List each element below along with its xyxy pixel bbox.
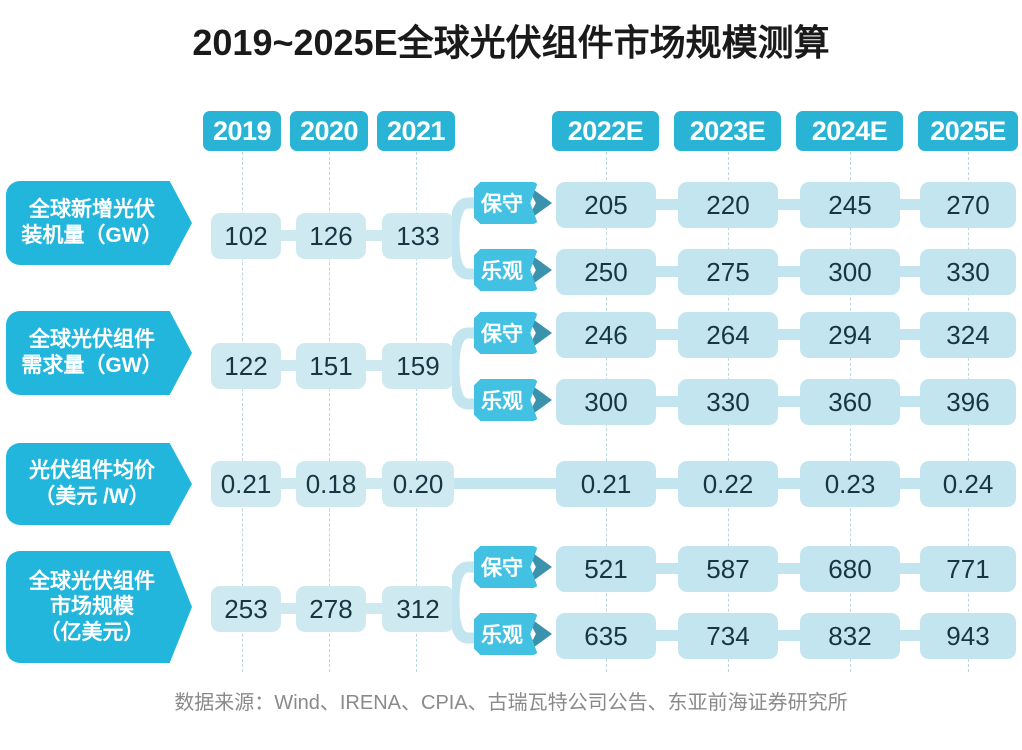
cell-r1-optimistic-2025E: 396 bbox=[920, 379, 1016, 425]
connector-optimistic-1-1 bbox=[656, 396, 678, 407]
cell-r3-optimistic-2025E: 943 bbox=[920, 613, 1016, 659]
scenario-badge-optimistic-0: 乐观 bbox=[474, 249, 538, 291]
bridge-connector-2 bbox=[454, 478, 556, 489]
scenario-badge-conservative-0: 保守 bbox=[474, 182, 538, 224]
cell-r0-conservative-2025E: 270 bbox=[920, 182, 1016, 228]
row-label-2: 光伏组件均价（美元 /W） bbox=[6, 443, 192, 525]
column-header-2020: 2020 bbox=[290, 111, 368, 151]
cell-r2-2023E: 0.22 bbox=[678, 461, 778, 507]
cell-r1-2019: 122 bbox=[211, 343, 281, 389]
cell-r1-2021: 159 bbox=[382, 343, 454, 389]
connector-optimistic-3-2 bbox=[778, 630, 800, 641]
cell-r2-2022E: 0.21 bbox=[556, 461, 656, 507]
connector-optimistic-0-3 bbox=[900, 266, 920, 277]
cell-r0-2021: 133 bbox=[382, 213, 454, 259]
connector-conservative-3-3 bbox=[900, 563, 920, 574]
connector-forecast-2-2 bbox=[778, 478, 800, 489]
connector-conservative-0-1 bbox=[656, 199, 678, 210]
connector-conservative-3-2 bbox=[778, 563, 800, 574]
cell-r0-conservative-2023E: 220 bbox=[678, 182, 778, 228]
connector-conservative-0-2 bbox=[778, 199, 800, 210]
row-label-0: 全球新增光伏装机量（GW） bbox=[6, 181, 192, 265]
connector-hist-3-2 bbox=[366, 603, 382, 614]
connector-hist-1-1 bbox=[281, 360, 296, 371]
cell-r2-2024E: 0.23 bbox=[800, 461, 900, 507]
cell-r0-optimistic-2022E: 250 bbox=[556, 249, 656, 295]
connector-optimistic-3-1 bbox=[656, 630, 678, 641]
column-header-2022e: 2022E bbox=[552, 111, 659, 151]
scenario-badge-conservative-1: 保守 bbox=[474, 312, 538, 354]
connector-forecast-2-3 bbox=[900, 478, 920, 489]
connector-hist-0-2 bbox=[366, 230, 382, 241]
page-title: 2019~2025E全球光伏组件市场规模测算 bbox=[0, 14, 1022, 66]
row-label-1: 全球光伏组件需求量（GW） bbox=[6, 311, 192, 395]
connector-hist-0-1 bbox=[281, 230, 296, 241]
cell-r3-2020: 278 bbox=[296, 586, 366, 632]
cell-r3-conservative-2025E: 771 bbox=[920, 546, 1016, 592]
connector-hist-2-2 bbox=[366, 478, 382, 489]
connector-conservative-1-2 bbox=[778, 329, 800, 340]
scenario-badge-optimistic-3: 乐观 bbox=[474, 613, 538, 655]
row-label-line: 全球光伏组件 bbox=[29, 327, 155, 353]
cell-r3-optimistic-2022E: 635 bbox=[556, 613, 656, 659]
cell-r3-optimistic-2023E: 734 bbox=[678, 613, 778, 659]
connector-conservative-0-3 bbox=[900, 199, 920, 210]
row-label-line: 市场规模 bbox=[50, 594, 134, 620]
cell-r3-conservative-2023E: 587 bbox=[678, 546, 778, 592]
row-label-line: 光伏组件均价 bbox=[29, 458, 155, 484]
cell-r1-optimistic-2022E: 300 bbox=[556, 379, 656, 425]
connector-conservative-3-1 bbox=[656, 563, 678, 574]
cell-r3-2021: 312 bbox=[382, 586, 454, 632]
cell-r0-conservative-2022E: 205 bbox=[556, 182, 656, 228]
row-label-line: 全球光伏组件 bbox=[29, 569, 155, 595]
cell-r0-optimistic-2025E: 330 bbox=[920, 249, 1016, 295]
cell-r2-2025E: 0.24 bbox=[920, 461, 1016, 507]
cell-r1-conservative-2023E: 264 bbox=[678, 312, 778, 358]
connector-forecast-2-1 bbox=[656, 478, 678, 489]
connector-optimistic-3-3 bbox=[900, 630, 920, 641]
source-note: 数据来源：Wind、IRENA、CPIA、古瑞瓦特公司公告、东亚前海证券研究所 bbox=[0, 686, 1022, 715]
connector-hist-3-1 bbox=[281, 603, 296, 614]
row-label-line: （美元 /W） bbox=[34, 484, 150, 510]
connector-conservative-1-1 bbox=[656, 329, 678, 340]
cell-r1-2020: 151 bbox=[296, 343, 366, 389]
column-header-2025e: 2025E bbox=[918, 111, 1018, 151]
cell-r0-conservative-2024E: 245 bbox=[800, 182, 900, 228]
column-header-2021: 2021 bbox=[377, 111, 455, 151]
row-label-line: （亿美元） bbox=[40, 620, 145, 646]
cell-r0-optimistic-2024E: 300 bbox=[800, 249, 900, 295]
cell-r3-optimistic-2024E: 832 bbox=[800, 613, 900, 659]
cell-r3-conservative-2024E: 680 bbox=[800, 546, 900, 592]
cell-r0-2019: 102 bbox=[211, 213, 281, 259]
column-header-2024e: 2024E bbox=[796, 111, 903, 151]
connector-hist-1-2 bbox=[366, 360, 382, 371]
connector-optimistic-0-1 bbox=[656, 266, 678, 277]
cell-r1-conservative-2024E: 294 bbox=[800, 312, 900, 358]
column-header-2023e: 2023E bbox=[674, 111, 781, 151]
cell-r1-optimistic-2024E: 360 bbox=[800, 379, 900, 425]
infographic-root: 2019~2025E全球光伏组件市场规模测算 2019202020212022E… bbox=[0, 0, 1022, 750]
scenario-badge-conservative-3: 保守 bbox=[474, 546, 538, 588]
column-header-2019: 2019 bbox=[203, 111, 281, 151]
cell-r2-2019: 0.21 bbox=[211, 461, 281, 507]
row-label-line: 装机量（GW） bbox=[21, 223, 162, 249]
row-label-line: 需求量（GW） bbox=[21, 353, 162, 379]
cell-r1-conservative-2022E: 246 bbox=[556, 312, 656, 358]
cell-r3-2019: 253 bbox=[211, 586, 281, 632]
row-label-line: 全球新增光伏 bbox=[29, 197, 155, 223]
cell-r2-2020: 0.18 bbox=[296, 461, 366, 507]
cell-r0-optimistic-2023E: 275 bbox=[678, 249, 778, 295]
cell-r0-2020: 126 bbox=[296, 213, 366, 259]
connector-conservative-1-3 bbox=[900, 329, 920, 340]
cell-r3-conservative-2022E: 521 bbox=[556, 546, 656, 592]
connector-optimistic-1-2 bbox=[778, 396, 800, 407]
connector-optimistic-0-2 bbox=[778, 266, 800, 277]
connector-optimistic-1-3 bbox=[900, 396, 920, 407]
cell-r1-optimistic-2023E: 330 bbox=[678, 379, 778, 425]
cell-r1-conservative-2025E: 324 bbox=[920, 312, 1016, 358]
cell-r2-2021: 0.20 bbox=[382, 461, 454, 507]
connector-hist-2-1 bbox=[281, 478, 296, 489]
scenario-badge-optimistic-1: 乐观 bbox=[474, 379, 538, 421]
row-label-3: 全球光伏组件市场规模（亿美元） bbox=[6, 551, 192, 663]
